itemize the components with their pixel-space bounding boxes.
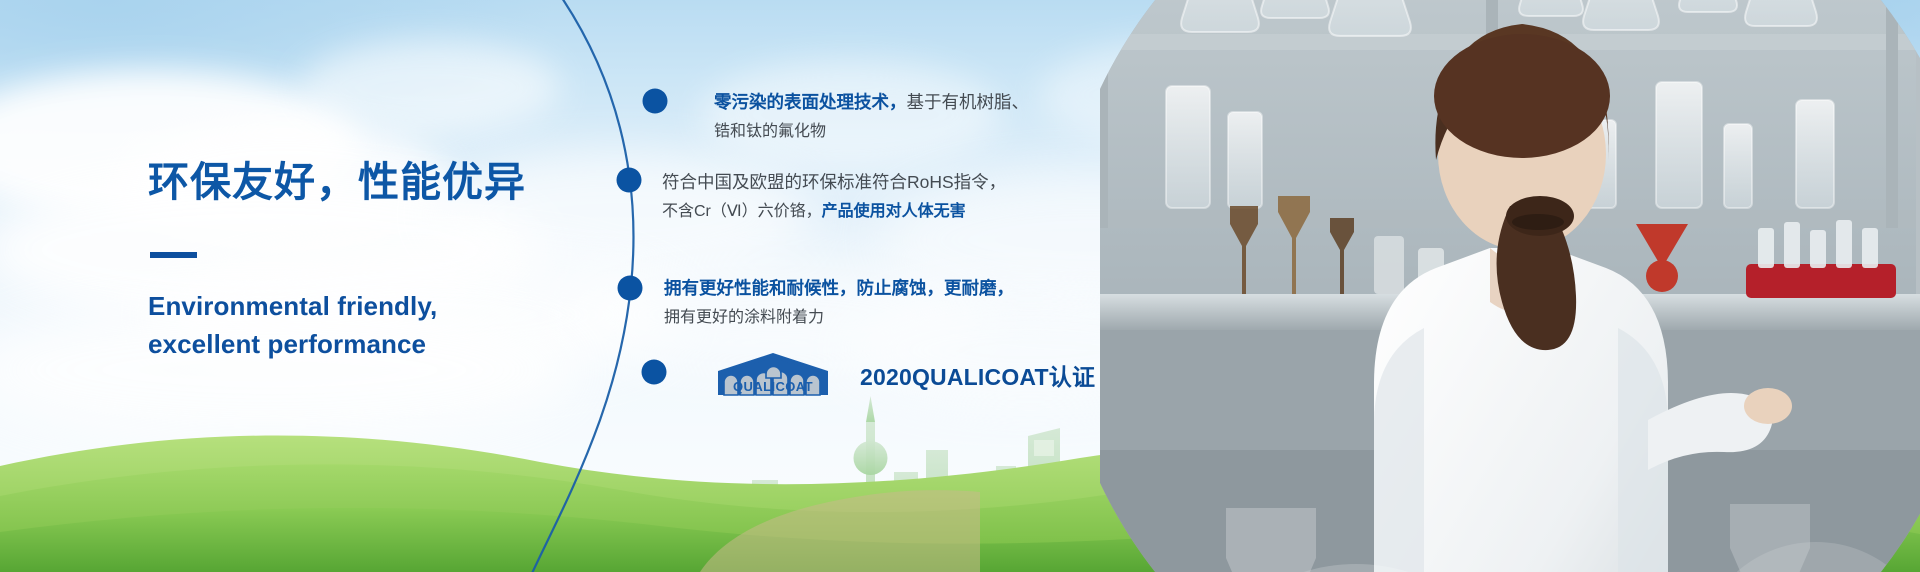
feature-1-line1-rest: 基于有机树脂、 xyxy=(907,92,1030,112)
feature-1-line2: 锆和钛的氟化物 xyxy=(714,123,826,140)
feature-list: 零污染的表面处理技术，基于有机树脂、 锆和钛的氟化物 符合中国及欧盟的环保标准符… xyxy=(0,0,1920,572)
feature-item-durability: 拥有更好性能和耐候性，防止腐蚀，更耐磨， 拥有更好的涂料附着力 xyxy=(664,274,1014,332)
qualicoat-logo-icon: QUALICOAT xyxy=(700,352,846,398)
svg-text:QUALICOAT: QUALICOAT xyxy=(733,379,813,394)
certification-label: 2020QUALICOAT认证 xyxy=(860,358,1095,392)
feature-item-rohs: 符合中国及欧盟的环保标准符合RoHS指令， 不含Cr（Ⅵ）六价铬，产品使用对人体… xyxy=(662,168,1006,226)
feature-2-line2-plain: 不含Cr（Ⅵ）六价铬， xyxy=(662,203,822,220)
certification-row: QUALICOAT 2020QUALICOAT认证 xyxy=(700,352,1095,398)
hero-banner: 环保友好，性能优异 Environmental friendly, excell… xyxy=(0,0,1920,572)
feature-1-line1-bold: 零污染的表面处理技术， xyxy=(714,92,907,112)
feature-2-line2-bold: 产品使用对人体无害 xyxy=(822,203,966,220)
feature-3-line2: 拥有更好的涂料附着力 xyxy=(664,309,824,326)
feature-3-line1: 拥有更好性能和耐候性，防止腐蚀，更耐磨， xyxy=(664,278,1014,298)
feature-item-zero-pollution: 零污染的表面处理技术，基于有机树脂、 锆和钛的氟化物 xyxy=(714,88,1029,146)
feature-2-line1: 符合中国及欧盟的环保标准符合RoHS指令， xyxy=(662,172,1006,192)
